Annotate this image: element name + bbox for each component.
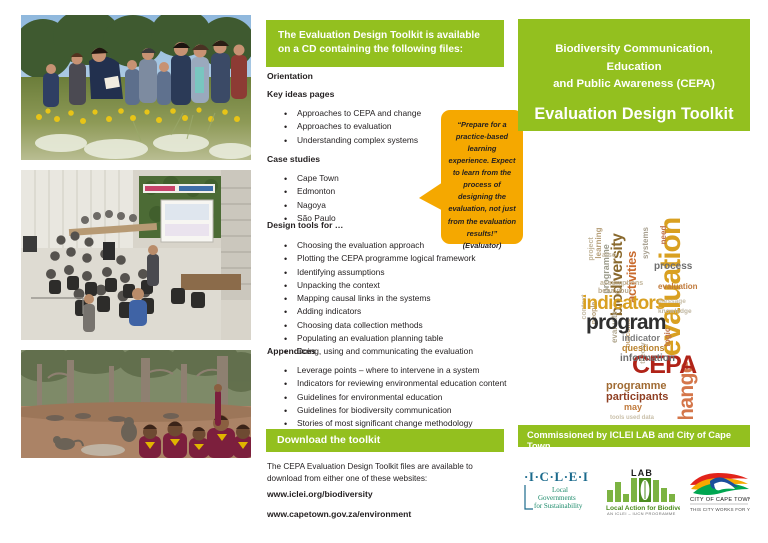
subtitle-line-2: and Public Awareness (CEPA) — [530, 76, 738, 94]
section-heading-design-tools: Design tools for … — [267, 220, 343, 230]
svg-text:program: program — [586, 311, 666, 334]
list-item: Identifying assumptions — [297, 266, 537, 279]
section-heading-appendices: Appendices — [267, 346, 316, 356]
section-heading-case-studies: Case studies — [267, 154, 320, 164]
list-item: Guidelines for biodiversity communicatio… — [297, 404, 539, 417]
title-column: Biodiversity Communication, Education an… — [518, 15, 750, 530]
svg-text:message: message — [658, 298, 686, 305]
list-item: Populating an evaluation planning table — [297, 332, 537, 345]
svg-text:knowledge: knowledge — [658, 308, 692, 315]
download-description: The CEPA Evaluation Design Toolkit files… — [267, 461, 497, 486]
evaluator-quote-callout: “Prepare for a practice-based learning e… — [419, 110, 523, 244]
svg-text:indicator: indicator — [622, 333, 661, 343]
wordcloud-graphic: evaluation change biodiversity activitie… — [562, 157, 712, 419]
svg-text:evaluation: evaluation — [658, 282, 698, 291]
svg-text:Governments: Governments — [538, 494, 576, 502]
cd-contents-banner: The Evaluation Design Toolkit is availab… — [266, 20, 504, 67]
iclei-logo: ·I·C·L·E·I Local Governments for Sustain… — [522, 467, 594, 513]
page-title: Evaluation Design Toolkit — [530, 105, 738, 124]
svg-text:·I·C·L·E·I: ·I·C·L·E·I — [524, 469, 589, 484]
subtitle-line-1: Biodiversity Communication, Education — [530, 41, 738, 76]
svg-text:THIS CITY WORKS FOR YOU: THIS CITY WORKS FOR YOU — [690, 507, 750, 512]
list-item: Indicators for reviewing environmental e… — [297, 377, 539, 390]
svg-text:behaviour: behaviour — [598, 288, 632, 295]
commissioned-by-bar: Commissioned by ICLEI LAB and City of Ca… — [518, 425, 750, 447]
svg-text:also: also — [602, 252, 616, 259]
list-item: Mapping causal links in the systems — [297, 292, 537, 305]
list-item: Plotting the CEPA programme logical fram… — [297, 252, 537, 265]
design-tools-list: Choosing the evaluation approach Plottin… — [267, 239, 537, 359]
svg-text:process: process — [654, 261, 693, 272]
download-the-toolkit-bar[interactable]: Download the toolkit — [266, 429, 504, 452]
svg-text:AN ICLEI – IUCN PROGRAMME: AN ICLEI – IUCN PROGRAMME — [607, 511, 676, 516]
title-block: Biodiversity Communication, Education an… — [518, 19, 750, 131]
list-item: Guidelines for environmental education — [297, 391, 539, 404]
photo-workshop-in-atrium — [21, 170, 251, 340]
svg-text:questions: questions — [622, 343, 665, 353]
svg-text:CITY OF CAPE TOWN: CITY OF CAPE TOWN — [690, 497, 750, 503]
svg-text:project: project — [588, 237, 595, 261]
list-item: Adding indicators — [297, 305, 537, 318]
photo-column — [21, 15, 256, 530]
section-heading-orientation: Orientation — [267, 71, 313, 81]
svg-text:systems: systems — [641, 226, 650, 259]
contents-column: The Evaluation Design Toolkit is availab… — [266, 15, 509, 530]
svg-text:for Sustainability: for Sustainability — [534, 502, 583, 510]
photo-schoolchildren-with-baboons — [21, 350, 251, 458]
list-item: Unpacking the context — [297, 279, 537, 292]
link-iclei-biodiversity[interactable]: www.iclei.org/biodiversity — [267, 489, 373, 499]
svg-text:tools used data: tools used data — [610, 415, 655, 419]
svg-text:need: need — [659, 226, 668, 245]
list-item: Choosing data collection methods — [297, 319, 537, 332]
brochure-page: The Evaluation Design Toolkit is availab… — [0, 0, 768, 543]
callout-body: “Prepare for a practice-based learning e… — [441, 110, 523, 244]
list-item: Leverage points – where to intervene in … — [297, 364, 539, 377]
svg-text:assumptions: assumptions — [600, 280, 643, 287]
svg-text:information: information — [620, 353, 675, 364]
svg-text:LAB: LAB — [631, 468, 653, 478]
svg-text:may: may — [624, 402, 642, 412]
section-heading-key-ideas-pages: Key ideas pages — [267, 89, 334, 99]
partner-logos: ·I·C·L·E·I Local Governments for Sustain… — [518, 462, 750, 524]
city-of-cape-town-logo: CITY OF CAPE TOWN THIS CITY WORKS FOR YO… — [688, 467, 750, 513]
link-capetown-environment[interactable]: www.capetown.gov.za/environment — [267, 509, 411, 519]
photo-group-in-wildflower-field — [21, 15, 251, 160]
list-item: Doing, using and communicating the evalu… — [297, 345, 537, 358]
callout-quote-text: “Prepare for a practice-based learning e… — [447, 119, 517, 252]
lab-logo: LAB Local Action for Biodiversity — [604, 464, 680, 516]
svg-text:Local: Local — [552, 486, 568, 494]
